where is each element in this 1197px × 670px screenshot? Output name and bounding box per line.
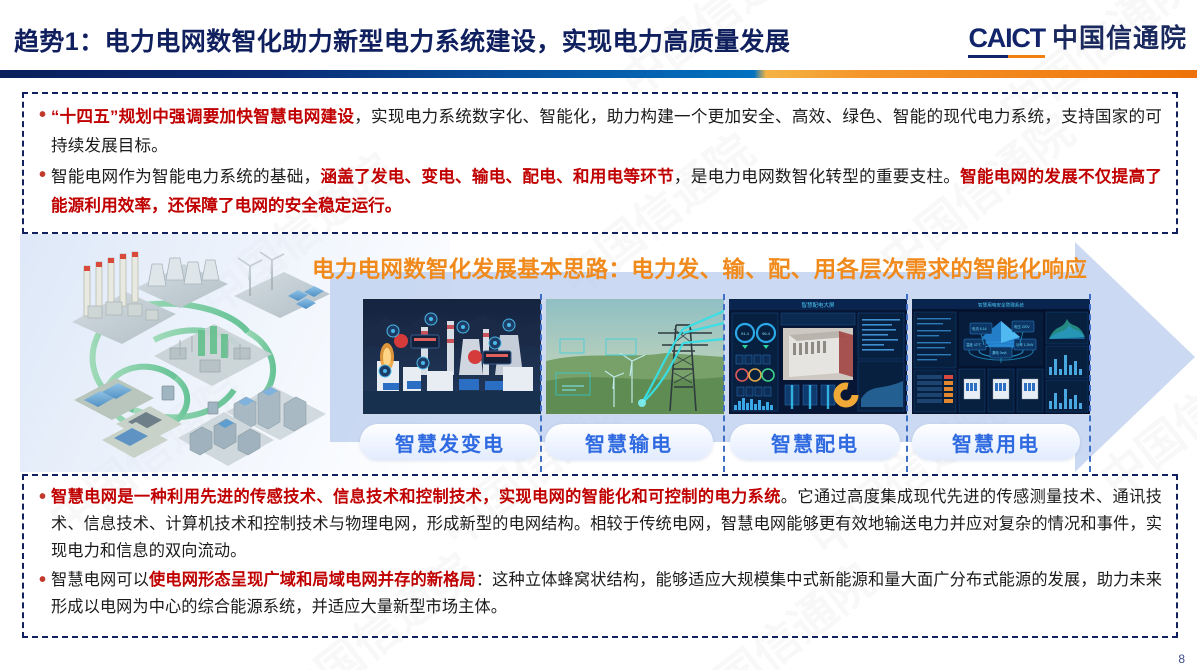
panel-image-smart-transmission <box>545 298 725 415</box>
svg-text:电压 220V: 电压 220V <box>1014 324 1030 329</box>
column-separator <box>540 294 542 472</box>
pill-label: 智慧发变电 <box>395 428 505 457</box>
tab-smart-consumption[interactable]: 智慧用电 <box>912 424 1080 460</box>
header-gradient-bar <box>0 70 1197 78</box>
list-item: • 智能电网作为智能电力系统的基础，涵盖了发电、变电、输电、配电、和用电等环节，… <box>34 162 1162 220</box>
bullet-emph: 涵盖了发电、变电、输电、配电、和用电等环节 <box>320 167 674 186</box>
bullet-emph: “十四五”规划中强调要加快智慧电网建设 <box>51 107 354 126</box>
pill-label: 智慧配电 <box>771 428 859 457</box>
logo-en-text: CAICT <box>968 23 1045 58</box>
bullet-text: 智慧电网是一种利用先进的传感技术、信息技术和控制技术，实现电网的智能化和可控制的… <box>51 484 1162 565</box>
tab-smart-generation[interactable]: 智慧发变电 <box>360 424 540 460</box>
svg-text:96.4: 96.4 <box>762 331 771 336</box>
caict-logo: CAICT 中国信通院 <box>968 18 1187 58</box>
top-bullet-list: • “十四五”规划中强调要加快智慧电网建设，实现电力系统数字化、智能化，助力构建… <box>24 94 1176 220</box>
bullet-marker: • <box>34 484 51 510</box>
column-separator <box>906 294 908 472</box>
bullet-marker: • <box>34 162 51 188</box>
list-item: • 智慧电网是一种利用先进的传感技术、信息技术和控制技术，实现电网的智能化和可控… <box>34 484 1162 565</box>
svg-text:智慧用电安全管理系统: 智慧用电安全管理系统 <box>978 302 1024 309</box>
svg-text:功率 1.2kW: 功率 1.2kW <box>1016 342 1034 347</box>
bottom-bullet-list: • 智慧电网是一种利用先进的传感技术、信息技术和控制技术，实现电网的智能化和可控… <box>24 476 1176 621</box>
svg-text:91.4: 91.4 <box>741 331 750 336</box>
list-item: • “十四五”规划中强调要加快智慧电网建设，实现电力系统数字化、智能化，助力构建… <box>34 102 1162 160</box>
bullet-plain: 智慧电网可以 <box>51 571 149 589</box>
list-item: • 智慧电网可以使电网形态呈现广域和局域电网并存的新格局：这种立体蜂窝状结构，能… <box>34 567 1162 621</box>
bullet-emph: 使电网形态呈现广域和局域电网并存的新格局 <box>149 571 476 589</box>
column-separator <box>723 294 725 472</box>
logo-cn-text: 中国信通院 <box>1052 18 1187 55</box>
bullet-plain: ，是电力电网数智化转型的重要支柱。 <box>674 167 960 186</box>
bullet-text: “十四五”规划中强调要加快智慧电网建设，实现电力系统数字化、智能化，助力构建一个… <box>51 102 1162 160</box>
panel-image-smart-consumption: 智慧用电安全管理系统 <box>911 298 1091 415</box>
column-separator <box>1089 294 1091 472</box>
bullet-plain: 智能电网作为智能电力系统的基础， <box>51 167 320 186</box>
slide-root: 中国信通院 中国信通院 中国信通院 中国信通院 中国信通院 中国信通院 中国信通… <box>0 0 1197 670</box>
bullet-emph: 智慧电网是一种利用先进的传感技术、信息技术和控制技术，实现电网的智能化和可控制的… <box>51 488 781 506</box>
svg-text:温度 42℃: 温度 42℃ <box>966 342 981 347</box>
tab-smart-distribution[interactable]: 智慧配电 <box>730 424 900 460</box>
page-number: 8 <box>1178 652 1185 666</box>
bullet-marker: • <box>34 567 51 593</box>
svg-text:漏电 0mA: 漏电 0mA <box>992 350 1007 355</box>
svg-text:电流 6.1A: 电流 6.1A <box>972 326 987 331</box>
svg-text:智慧配电大屏: 智慧配电大屏 <box>801 301 835 309</box>
bullet-marker: • <box>34 102 51 128</box>
pill-label: 智慧输电 <box>585 428 673 457</box>
top-text-box: • “十四五”规划中强调要加快智慧电网建设，实现电力系统数字化、智能化，助力构建… <box>22 92 1178 234</box>
panel-image-smart-generation <box>362 298 542 415</box>
page-title: 趋势1：电力电网数智化助力新型电力系统建设，实现电力高质量发展 <box>14 22 790 58</box>
tab-smart-transmission[interactable]: 智慧输电 <box>545 424 713 460</box>
bullet-text: 智能电网作为智能电力系统的基础，涵盖了发电、变电、输电、配电、和用电等环节，是电… <box>51 162 1162 220</box>
bottom-text-box: • 智慧电网是一种利用先进的传感技术、信息技术和控制技术，实现电网的智能化和可控… <box>22 474 1178 638</box>
bullet-text: 智慧电网可以使电网形态呈现广域和局域电网并存的新格局：这种立体蜂窝状结构，能够适… <box>51 567 1162 621</box>
slide-header: 趋势1：电力电网数智化助力新型电力系统建设，实现电力高质量发展 CAICT 中国… <box>0 0 1197 72</box>
panel-image-smart-distribution: 智慧配电大屏 91.496.4 <box>728 298 908 415</box>
pill-label: 智慧用电 <box>952 428 1040 457</box>
power-grid-illustration <box>58 244 348 466</box>
middle-title: 电力电网数智化发展基本思路：电力发、输、配、用各层次需求的智能化响应 <box>312 252 1182 284</box>
